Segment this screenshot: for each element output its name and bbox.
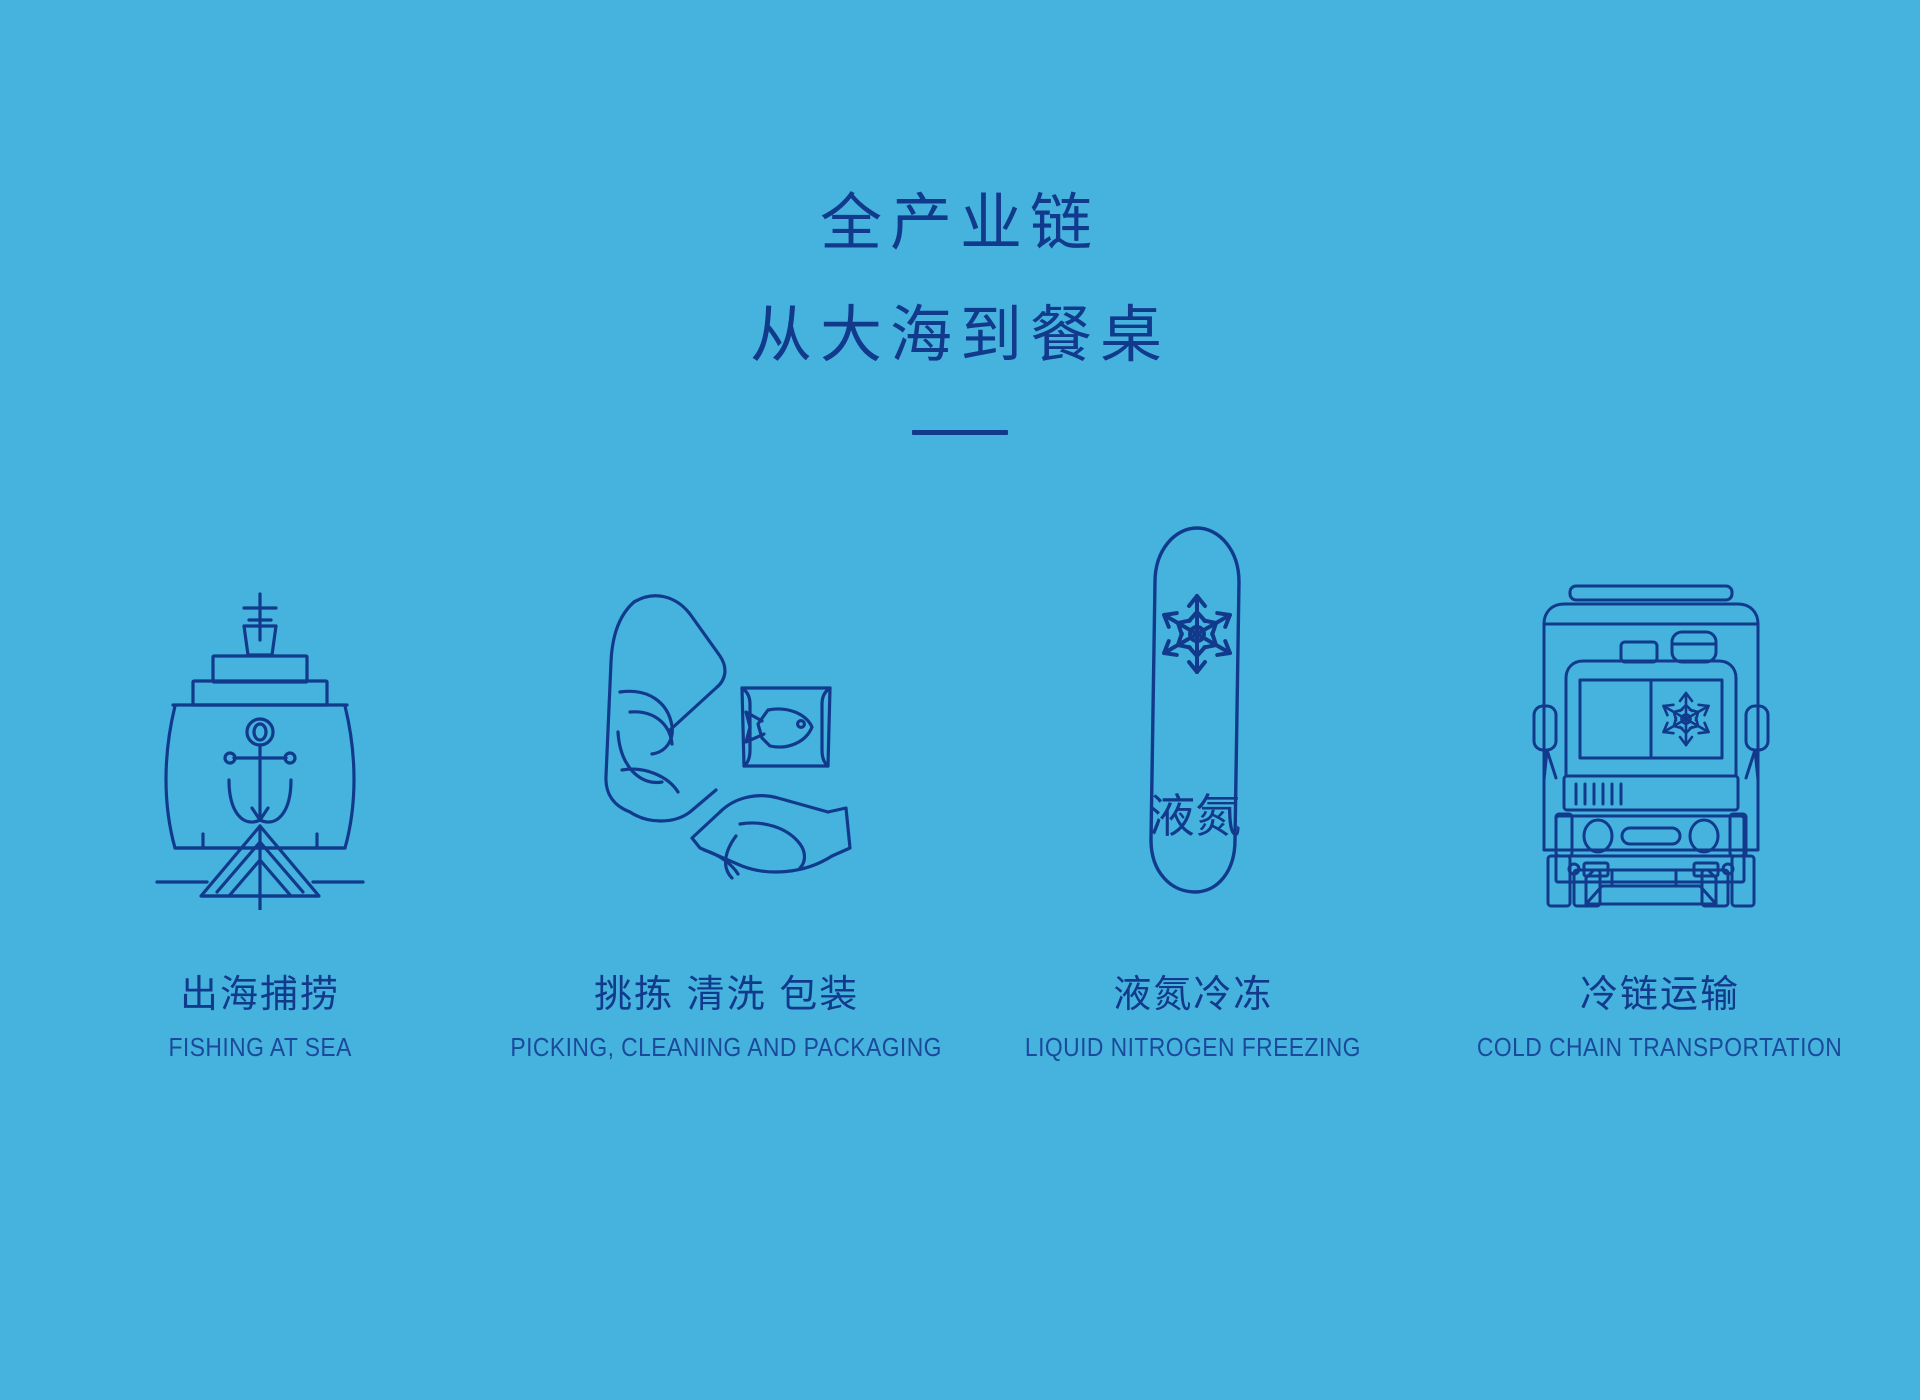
- step-picking-cleaning-packaging[interactable]: 挑拣 清洗 包装 PICKING, CLEANING AND PACKAGING: [497, 520, 957, 1063]
- fishing-boat-icon: [145, 520, 375, 910]
- step-labels: 冷链运输 COLD CHAIN TRANSPORTATION: [1452, 972, 1867, 1063]
- tank-text: 液氮: [1149, 790, 1241, 842]
- step-liquid-nitrogen-freezing[interactable]: 液氮 液氮冷冻 LIQUID NITROGEN FREEZING: [963, 520, 1423, 1063]
- step-labels: 出海捕捞 FISHING AT SEA: [156, 972, 364, 1063]
- liquid-nitrogen-tank-icon: 液氮: [1113, 520, 1273, 910]
- step-label-cn: 挑拣 清洗 包装: [481, 972, 971, 1020]
- step-fishing-at-sea[interactable]: 出海捕捞 FISHING AT SEA: [30, 520, 490, 1063]
- step-label-cn: 液氮冷冻: [1002, 972, 1384, 1020]
- process-steps: 出海捕捞 FISHING AT SEA: [0, 520, 1920, 1063]
- step-label-en: FISHING AT SEA: [168, 1032, 351, 1063]
- step-label-cn: 冷链运输: [1452, 972, 1867, 1020]
- step-cold-chain-transportation[interactable]: 冷链运输 COLD CHAIN TRANSPORTATION: [1430, 520, 1890, 1063]
- infographic-page: 全产业链 从大海到餐桌: [0, 0, 1920, 1400]
- refrigerated-truck-icon: [1526, 520, 1794, 910]
- title-divider: [912, 430, 1008, 435]
- step-labels: 液氮冷冻 LIQUID NITROGEN FREEZING: [1002, 972, 1384, 1063]
- step-label-cn: 出海捕捞: [156, 972, 364, 1020]
- step-label-en: COLD CHAIN TRANSPORTATION: [1477, 1032, 1842, 1063]
- page-title-block: 全产业链 从大海到餐桌: [750, 168, 1170, 435]
- page-title-line-2: 从大海到餐桌: [750, 280, 1170, 392]
- step-labels: 挑拣 清洗 包装 PICKING, CLEANING AND PACKAGING: [481, 972, 971, 1063]
- step-label-en: PICKING, CLEANING AND PACKAGING: [511, 1032, 943, 1063]
- step-label-en: LIQUID NITROGEN FREEZING: [1025, 1032, 1361, 1063]
- page-title-line-1: 全产业链: [750, 168, 1170, 280]
- hands-fish-packet-icon: [592, 520, 862, 910]
